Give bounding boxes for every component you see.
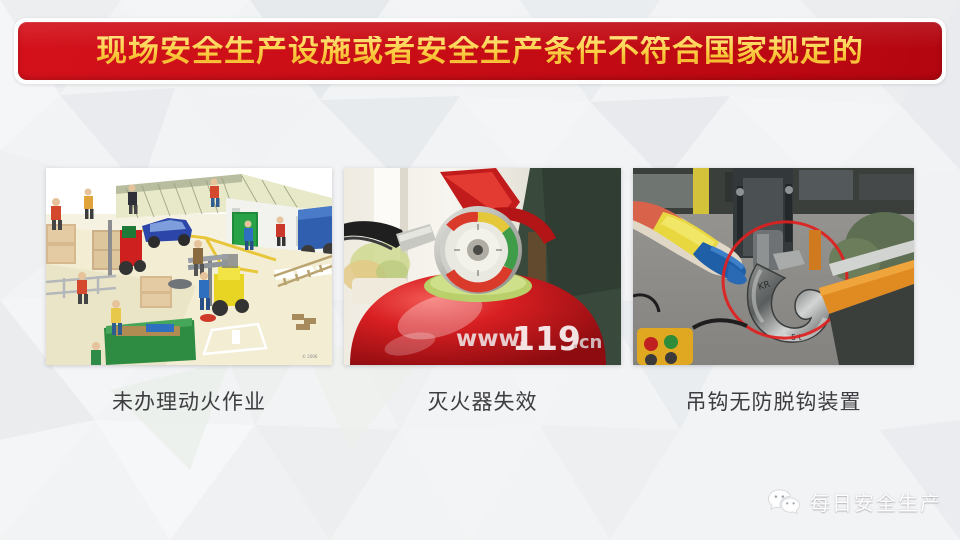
svg-text:119: 119 bbox=[512, 319, 581, 358]
watermark-label: 每日安全生产 bbox=[810, 487, 942, 516]
caption-photo-3: 吊钩无防脱钩装置 bbox=[633, 385, 914, 419]
photo-warehouse-illustration: © 2006 bbox=[46, 168, 332, 365]
slide-root: 现场安全生产设施或者安全生产条件不符合国家规定的 bbox=[0, 0, 960, 540]
title-banner-inner: 现场安全生产设施或者安全生产条件不符合国家规定的 bbox=[18, 22, 942, 80]
photo-row: © 2006 bbox=[0, 168, 960, 365]
title-banner: 现场安全生产设施或者安全生产条件不符合国家规定的 bbox=[14, 18, 946, 84]
svg-text:© 2006: © 2006 bbox=[302, 354, 318, 359]
caption-row: 未办理动火作业 灭火器失效 吊钩无防脱钩装置 bbox=[0, 385, 960, 419]
page-title: 现场安全生产设施或者安全生产条件不符合国家规定的 bbox=[96, 36, 864, 67]
photo-crane-hook: KR 5 t bbox=[633, 168, 914, 365]
photo-fire-extinguisher: www. 119 .cn bbox=[344, 168, 621, 365]
caption-photo-2: 灭火器失效 bbox=[344, 385, 621, 419]
wechat-icon bbox=[767, 488, 801, 515]
svg-text:.cn: .cn bbox=[572, 332, 602, 353]
watermark: 每日安全生产 bbox=[767, 487, 942, 516]
caption-photo-1: 未办理动火作业 bbox=[46, 385, 332, 419]
